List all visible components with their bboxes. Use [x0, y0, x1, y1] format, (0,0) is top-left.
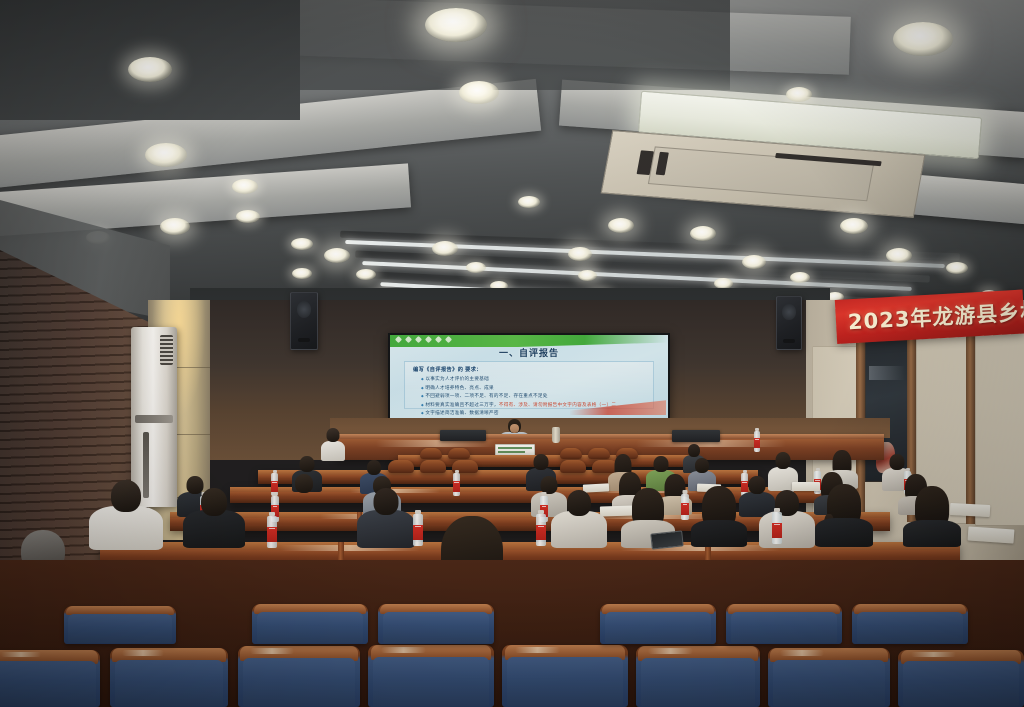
- seat-cushion: [383, 612, 490, 643]
- empty-seat[interactable]: [898, 650, 1024, 707]
- recessed-downlight: [568, 247, 592, 261]
- empty-seat[interactable]: [0, 650, 100, 707]
- person-torso: [551, 511, 607, 548]
- bottle-label: [772, 523, 782, 538]
- water-bottle: [681, 490, 689, 520]
- audience-person: [556, 490, 602, 546]
- bottle-label: [267, 527, 277, 542]
- seat-gloss: [648, 648, 693, 653]
- window-reflection: [869, 366, 906, 380]
- audience-person: [764, 490, 810, 546]
- person-torso: [89, 506, 163, 550]
- seat-cushion: [857, 612, 964, 643]
- bottle-label: [681, 503, 689, 515]
- recessed-downlight: [425, 8, 487, 42]
- audience-person: [362, 488, 410, 546]
- seat-cushion: [903, 661, 1019, 705]
- seat-cushion: [507, 657, 623, 705]
- person-torso: [285, 491, 323, 517]
- recessed-downlight: [518, 196, 540, 208]
- person-head: [890, 454, 905, 470]
- seat-gloss: [1, 652, 41, 657]
- ac-control-band: [135, 415, 173, 423]
- audience-person: [694, 486, 744, 546]
- recessed-downlight: [742, 255, 766, 269]
- recessed-downlight: [893, 22, 953, 56]
- table-nameplate: [672, 430, 720, 442]
- recessed-downlight: [690, 226, 716, 241]
- recessed-downlight: [291, 238, 313, 250]
- seat-cushion: [773, 660, 885, 706]
- ceiling-recess-bay: [300, 0, 730, 90]
- person-torso: [321, 441, 345, 461]
- audience-chair: [560, 460, 586, 473]
- water-bottle: [536, 510, 546, 546]
- recessed-downlight: [840, 218, 868, 234]
- slide-bullet: 以事实为人才评价的主要基础: [421, 376, 647, 382]
- tablet-device[interactable]: [650, 530, 683, 549]
- person-torso: [357, 510, 415, 548]
- empty-seat[interactable]: [600, 604, 716, 644]
- thermos-cup: [552, 427, 560, 443]
- empty-seat[interactable]: [64, 606, 176, 644]
- recessed-downlight: [232, 179, 258, 194]
- seat-cushion: [243, 658, 355, 706]
- person-head: [111, 480, 141, 512]
- person-torso: [815, 518, 873, 547]
- person-head: [295, 474, 313, 493]
- water-bottle: [754, 428, 760, 452]
- seat-cushion: [731, 612, 838, 643]
- recessed-downlight: [356, 269, 376, 280]
- seat-gloss: [250, 648, 294, 653]
- recessed-downlight: [160, 218, 190, 235]
- seat-gloss: [515, 647, 560, 653]
- empty-seat[interactable]: [368, 645, 494, 707]
- audience-chair: [588, 448, 610, 459]
- audience-chair: [560, 448, 582, 459]
- table-nameplate: [440, 430, 486, 441]
- recessed-downlight: [786, 87, 812, 102]
- bottle-label: [536, 525, 546, 540]
- namecard-line: [498, 447, 532, 449]
- person-head: [300, 456, 315, 472]
- head-table-sheen: [376, 440, 496, 447]
- audience-person: [95, 480, 157, 546]
- wall-speaker: [776, 296, 802, 350]
- recessed-downlight: [145, 143, 187, 167]
- slide-title: 一、自评报告: [390, 346, 668, 359]
- recessed-downlight: [466, 262, 486, 273]
- speaker-port: [783, 339, 795, 343]
- projection-screen-frame: 一、自评报告 编写《自评报告》的 要求： 以事实为人才评价的主要基础 明确人才培…: [388, 333, 670, 425]
- slide-bullet-text: 材料要真实准确且不超过三万字，: [425, 402, 498, 407]
- bottle-label: [754, 438, 760, 448]
- recessed-downlight: [128, 57, 172, 82]
- ac-vent-grille: [160, 335, 173, 365]
- seat-cushion: [373, 657, 489, 705]
- projection-screen: 一、自评报告 编写《自评报告》的 要求： 以事实为人才评价的主要基础 明确人才培…: [390, 335, 668, 423]
- person-head: [695, 458, 709, 473]
- person-torso: [903, 520, 961, 547]
- seat-cushion: [68, 614, 171, 644]
- audience-chair: [448, 448, 470, 459]
- slide-body: 编写《自评报告》的 要求： 以事实为人才评价的主要基础 明确人才培养特色、亮点、…: [404, 361, 654, 409]
- person-head: [367, 460, 381, 475]
- empty-seat[interactable]: [110, 648, 228, 707]
- seat-gloss: [381, 647, 426, 653]
- person-head: [688, 444, 700, 457]
- recessed-downlight: [578, 270, 597, 281]
- banner-text: 2023年龙游县乡村共富: [835, 293, 1024, 337]
- recessed-downlight: [324, 248, 350, 263]
- water-bottle: [413, 510, 423, 546]
- speaker-port: [298, 338, 310, 342]
- person-head: [374, 488, 399, 515]
- person-torso: [691, 520, 747, 547]
- water-bottle: [267, 512, 277, 548]
- recessed-downlight: [886, 248, 912, 263]
- slide-bullet: 不回避弱项一项、二项不足、有的不足、存在重点不足处: [421, 393, 647, 399]
- empty-seat[interactable]: [238, 646, 360, 707]
- wall-speaker: [290, 292, 318, 350]
- bottle-label: [413, 525, 423, 540]
- audience-person: [906, 486, 958, 546]
- presenter-face: [510, 424, 519, 433]
- recessed-downlight: [946, 262, 968, 274]
- seat-cushion: [0, 661, 96, 705]
- person-head: [201, 488, 227, 516]
- seat-cushion: [257, 612, 364, 643]
- empty-seat[interactable]: [768, 648, 890, 707]
- empty-seat[interactable]: [378, 604, 494, 644]
- bottle-label: [453, 481, 460, 492]
- water-bottle: [772, 508, 782, 544]
- person-head: [567, 490, 591, 516]
- audience-person: [322, 428, 344, 458]
- person-head: [749, 476, 766, 494]
- speaker-cone: [297, 301, 312, 318]
- audience-person: [288, 474, 320, 514]
- right-wall-panel: [975, 332, 1024, 526]
- empty-seat[interactable]: [726, 604, 842, 644]
- slide-lead-text: 编写《自评报告》的 要求：: [413, 366, 647, 373]
- recessed-downlight: [608, 218, 634, 233]
- slide-bullet: 明确人才培养特色、亮点、成果: [421, 385, 647, 391]
- recessed-downlight: [432, 241, 458, 256]
- person-head: [654, 456, 669, 472]
- seat-cushion: [605, 612, 712, 643]
- namecard-line: [498, 451, 525, 453]
- seat-cushion: [115, 660, 224, 706]
- recessed-downlight: [790, 272, 810, 283]
- right-wall-divider: [966, 332, 975, 524]
- ac-cassette-inner-panel: [647, 147, 874, 202]
- person-head: [776, 452, 791, 469]
- seat-gloss: [911, 652, 956, 657]
- empty-seat[interactable]: [852, 604, 968, 644]
- audience-person: [188, 488, 240, 546]
- slide-header-decoration: [396, 337, 451, 342]
- audience-chair: [388, 460, 414, 473]
- empty-seat[interactable]: [636, 646, 760, 707]
- bottle-label: [271, 481, 278, 492]
- recessed-downlight: [459, 81, 499, 104]
- audience-chair: [420, 460, 446, 473]
- person-head: [534, 454, 549, 470]
- person-torso: [759, 511, 815, 548]
- seat-cushion: [641, 658, 755, 706]
- speaker-cone: [782, 304, 795, 320]
- audience-chair: [420, 448, 442, 459]
- empty-seat[interactable]: [252, 604, 368, 644]
- recessed-downlight: [236, 210, 260, 223]
- empty-seat[interactable]: [502, 645, 628, 707]
- audience-person: [818, 484, 870, 546]
- slide-bullet-highlight: 不得有、涉及、请勿附报告中文字内容及表格（一）二: [499, 402, 616, 407]
- water-bottle: [453, 470, 460, 496]
- seat-gloss: [122, 650, 164, 655]
- conference-hall-photo: 2023年龙游县乡村共富 一、自评报告 编写《自评报告》的 要求： 以事实为人才…: [0, 0, 1024, 707]
- recessed-downlight: [292, 268, 312, 279]
- head-table-edge: [336, 434, 884, 439]
- person-head: [327, 428, 340, 442]
- seat-gloss: [780, 650, 824, 655]
